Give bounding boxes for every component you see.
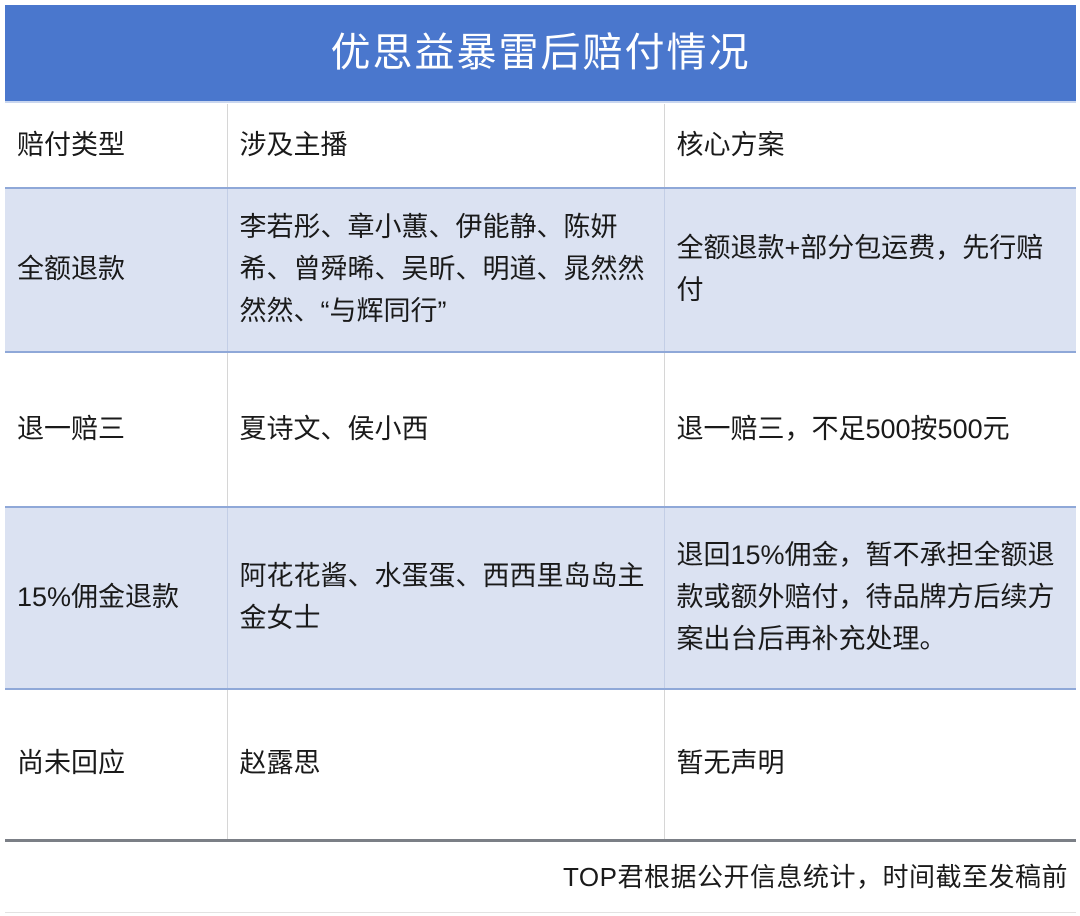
cell-hosts: 阿花花酱、水蛋蛋、西西里岛岛主金女士	[227, 507, 664, 689]
cell-plan: 退回15%佣金，暂不承担全额退款或额外赔付，待品牌方后续方案出台后再补充处理。	[664, 507, 1076, 689]
compensation-table: 赔付类型 涉及主播 核心方案 全额退款 李若彤、章小蕙、伊能静、陈妍希、曾舜晞、…	[5, 104, 1076, 913]
table-row: 退一赔三 夏诗文、侯小西 退一赔三，不足500按500元	[5, 352, 1076, 507]
cell-hosts: 夏诗文、侯小西	[227, 352, 664, 507]
cell-type: 退一赔三	[5, 352, 227, 507]
cell-hosts: 李若彤、章小蕙、伊能静、陈妍希、曾舜晞、吴昕、明道、晁然然然然、“与辉同行”	[227, 188, 664, 352]
cell-type: 15%佣金退款	[5, 507, 227, 689]
table-row: 15%佣金退款 阿花花酱、水蛋蛋、西西里岛岛主金女士 退回15%佣金，暂不承担全…	[5, 507, 1076, 689]
page-title: 优思益暴雷后赔付情况	[331, 31, 751, 75]
cell-hosts: 赵露思	[227, 689, 664, 840]
column-header-plan: 核心方案	[664, 104, 1076, 188]
source-note: TOP君根据公开信息统计，时间截至发稿前	[5, 840, 1076, 913]
cell-plan: 退一赔三，不足500按500元	[664, 352, 1076, 507]
table-row: 尚未回应 赵露思 暂无声明	[5, 689, 1076, 840]
cell-plan: 暂无声明	[664, 689, 1076, 840]
cell-type: 全额退款	[5, 188, 227, 352]
bottom-edge-line	[5, 912, 1076, 913]
column-header-type: 赔付类型	[5, 104, 227, 188]
cell-type: 尚未回应	[5, 689, 227, 840]
table-infographic: 优思益暴雷后赔付情况 赔付类型 涉及主播 核心方案 全额退款 李若彤、章小蕙、伊…	[0, 0, 1080, 916]
table-header-row: 赔付类型 涉及主播 核心方案	[5, 104, 1076, 188]
cell-plan: 全额退款+部分包运费，先行赔付	[664, 188, 1076, 352]
column-header-hosts: 涉及主播	[227, 104, 664, 188]
title-banner: 优思益暴雷后赔付情况	[5, 5, 1076, 103]
table-row: 全额退款 李若彤、章小蕙、伊能静、陈妍希、曾舜晞、吴昕、明道、晁然然然然、“与辉…	[5, 188, 1076, 352]
table-footer-row: TOP君根据公开信息统计，时间截至发稿前	[5, 840, 1076, 913]
